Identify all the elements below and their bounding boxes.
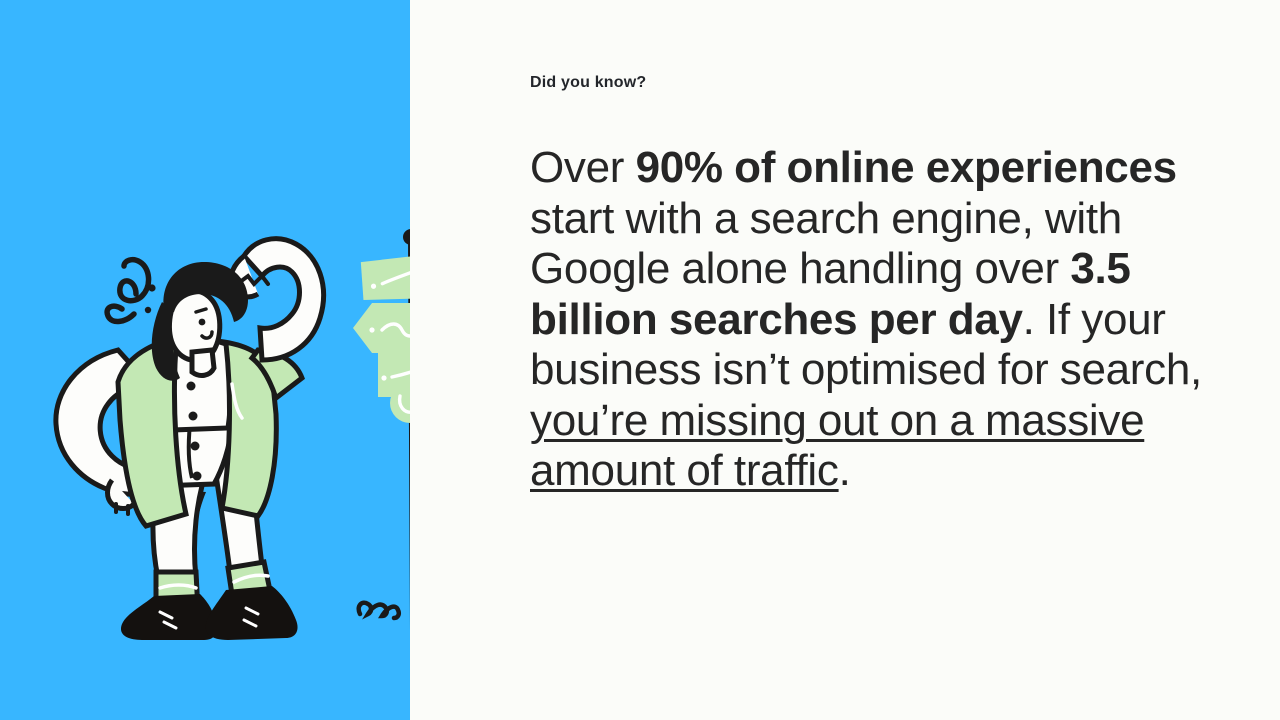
headline-segment-0: Over — [530, 143, 636, 192]
right-text-panel: Did you know? Over 90% of online experie… — [410, 0, 1280, 720]
eyebrow-label: Did you know? — [530, 74, 646, 92]
left-blue-panel — [0, 0, 410, 720]
headline-segment-6: . — [839, 446, 851, 495]
slide-root: Did you know? Over 90% of online experie… — [0, 0, 1280, 720]
headline-segment-5-underlined: you’re missing out on a massive amount o… — [530, 396, 1144, 496]
headline-segment-2: start with a search engine, with Google … — [530, 194, 1122, 294]
headline-segment-1: 90% of online experiences — [636, 143, 1177, 192]
headline-text: Over 90% of online experiences start wit… — [530, 143, 1202, 497]
